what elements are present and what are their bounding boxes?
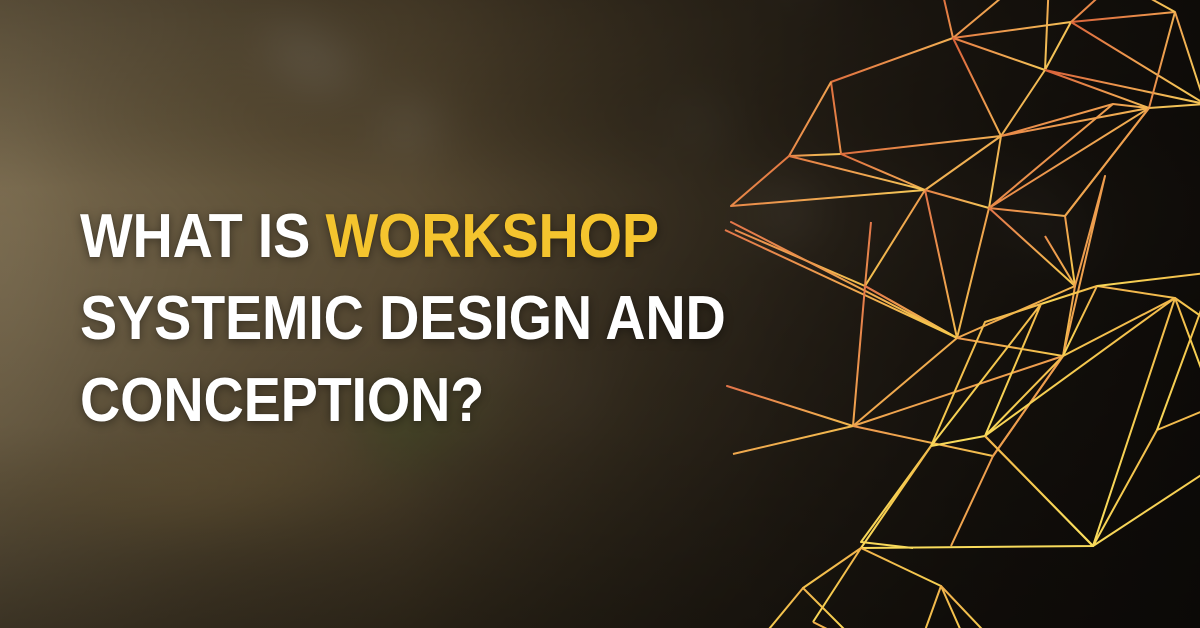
hero-headline: WHAT IS WORKSHOP SYSTEMIC DESIGN AND CON… bbox=[80, 196, 764, 442]
hero-banner: WHAT IS WORKSHOP SYSTEMIC DESIGN AND CON… bbox=[0, 0, 1200, 628]
headline-line-1: WHAT IS WORKSHOP bbox=[80, 196, 764, 278]
headline-accent-word: WORKSHOP bbox=[326, 202, 659, 271]
headline-line-3: CONCEPTION? bbox=[80, 360, 764, 442]
headline-line-2: SYSTEMIC DESIGN AND bbox=[80, 278, 764, 360]
headline-line-1-prefix: WHAT IS bbox=[80, 202, 326, 271]
